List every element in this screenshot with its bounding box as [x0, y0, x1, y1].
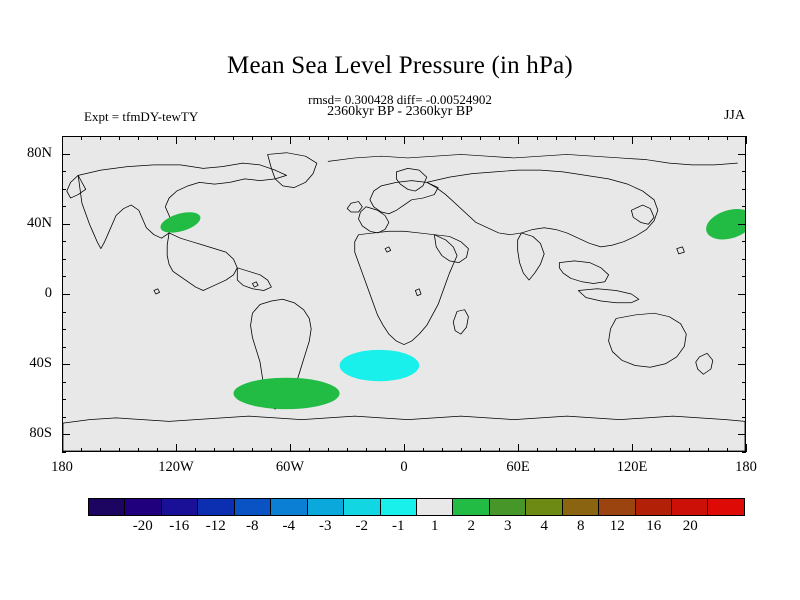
y-axis-tick-right [742, 206, 746, 207]
colorbar-swatch[interactable] [235, 499, 271, 515]
x-axis-tick [404, 444, 405, 452]
x-axis-tick [613, 448, 614, 452]
y-axis-tick [62, 347, 66, 348]
x-axis-tick-top [366, 136, 367, 140]
colorbar-tick-label: -3 [319, 518, 332, 535]
experiment-label: Expt = tfmDY-tewTY [84, 109, 198, 125]
colorbar-tick-label: 1 [431, 518, 439, 535]
colorbar-tick-label: -2 [356, 518, 369, 535]
x-axis-label: 120E [592, 459, 672, 476]
x-axis-tick [689, 448, 690, 452]
y-axis-tick-right [742, 136, 746, 137]
x-axis-tick [670, 448, 671, 452]
colorbar-swatch[interactable] [526, 499, 562, 515]
y-axis-label: 40N [0, 215, 52, 232]
y-axis-tick [62, 364, 70, 365]
x-axis-tick-top [689, 136, 690, 140]
x-axis-tick-top [651, 136, 652, 140]
y-axis-tick-right [742, 189, 746, 190]
y-axis-tick [62, 206, 66, 207]
y-axis-tick-right [742, 399, 746, 400]
x-axis-tick [309, 448, 310, 452]
x-axis-tick-top [214, 136, 215, 140]
x-axis-tick [575, 448, 576, 452]
colorbar-tick-label: 12 [610, 518, 625, 535]
x-axis-tick [556, 448, 557, 452]
x-axis-tick [214, 448, 215, 452]
colorbar-swatch[interactable] [308, 499, 344, 515]
season-label: JJA [724, 108, 745, 124]
x-axis-tick-top [328, 136, 329, 140]
x-axis-tick-top [537, 136, 538, 140]
colorbar-swatch[interactable] [344, 499, 380, 515]
y-axis-tick [62, 259, 66, 260]
x-axis-tick-top [385, 136, 386, 140]
colorbar-tick-label: 4 [541, 518, 549, 535]
colorbar-swatch[interactable] [672, 499, 708, 515]
y-axis-tick-right [738, 154, 746, 155]
colorbar-swatch[interactable] [125, 499, 161, 515]
colorbar-tick-labels: -20-16-12-8-4-3-2-112348121620 [88, 518, 745, 538]
x-axis-label: 60E [478, 459, 558, 476]
y-axis-tick [62, 189, 66, 190]
x-axis-tick [290, 444, 291, 452]
y-axis-tick [62, 434, 70, 435]
x-axis-tick [328, 448, 329, 452]
x-axis-tick-top [727, 136, 728, 140]
x-axis-tick [138, 448, 139, 452]
colorbar-swatch[interactable] [563, 499, 599, 515]
y-axis-tick-right [738, 294, 746, 295]
x-axis-tick-top [480, 136, 481, 140]
x-axis-tick [385, 448, 386, 452]
anomaly-north-pacific [158, 208, 203, 236]
x-axis-tick-top [62, 136, 63, 144]
y-axis-tick [62, 241, 66, 242]
y-axis-tick-right [742, 452, 746, 453]
y-axis-tick [62, 452, 66, 453]
x-axis-tick [499, 448, 500, 452]
x-axis-tick [651, 448, 652, 452]
colorbar-tick-label: 8 [577, 518, 585, 535]
y-axis-tick [62, 294, 70, 295]
y-axis-tick-right [742, 312, 746, 313]
x-axis-tick-top [119, 136, 120, 140]
y-axis-tick [62, 154, 70, 155]
x-axis-tick [480, 448, 481, 452]
colorbar-tick-label: -4 [283, 518, 296, 535]
y-axis-tick-right [742, 259, 746, 260]
y-axis-tick-right [738, 434, 746, 435]
y-axis-tick-right [742, 276, 746, 277]
y-axis-label: 0 [0, 285, 52, 302]
colorbar-swatch[interactable] [271, 499, 307, 515]
x-axis-tick [157, 448, 158, 452]
colorbar-swatch[interactable] [381, 499, 417, 515]
y-axis-tick [62, 312, 66, 313]
x-axis-tick [119, 448, 120, 452]
y-axis-label: 80N [0, 145, 52, 162]
x-axis-tick-top [423, 136, 424, 140]
colorbar-swatch[interactable] [490, 499, 526, 515]
y-axis-tick [62, 417, 66, 418]
y-axis-tick [62, 276, 66, 277]
y-axis-tick [62, 136, 66, 137]
x-axis-tick [81, 448, 82, 452]
y-axis-tick-right [742, 171, 746, 172]
colorbar-tick-label: -12 [206, 518, 226, 535]
x-axis-tick-top [309, 136, 310, 140]
x-axis-tick-top [613, 136, 614, 140]
colorbar-swatch[interactable] [417, 499, 453, 515]
colorbar-swatch[interactable] [453, 499, 489, 515]
x-axis-label: 0 [364, 459, 444, 476]
x-axis-tick-top [746, 136, 747, 144]
y-axis-tick [62, 382, 66, 383]
y-axis-tick-right [742, 382, 746, 383]
x-axis-tick-top [157, 136, 158, 140]
colorbar-swatch[interactable] [636, 499, 672, 515]
page-title: Mean Sea Level Pressure (in hPa) [0, 52, 800, 80]
y-axis-tick-right [742, 241, 746, 242]
x-axis-tick [176, 444, 177, 452]
x-axis-tick-top [556, 136, 557, 140]
y-axis-tick-right [742, 417, 746, 418]
colorbar-swatch[interactable] [198, 499, 234, 515]
x-axis-tick [347, 448, 348, 452]
colorbar-tick-label: 20 [683, 518, 698, 535]
colorbar-swatch[interactable] [708, 499, 743, 515]
y-axis-tick-right [738, 364, 746, 365]
x-axis-tick-top [404, 136, 405, 144]
x-axis-tick [594, 448, 595, 452]
x-axis-tick [461, 448, 462, 452]
x-axis-tick [537, 448, 538, 452]
x-axis-tick-top [442, 136, 443, 140]
colorbar-tick-label: 16 [646, 518, 661, 535]
x-axis-tick [62, 444, 63, 452]
colorbar[interactable] [88, 498, 745, 516]
colorbar-swatch[interactable] [599, 499, 635, 515]
x-axis-tick-top [594, 136, 595, 140]
x-axis-tick [233, 448, 234, 452]
x-axis-tick-top [499, 136, 500, 140]
x-axis-tick-top [518, 136, 519, 144]
x-axis-tick [366, 448, 367, 452]
colorbar-tick-label: -8 [246, 518, 259, 535]
colorbar-tick-label: -1 [392, 518, 405, 535]
x-axis-tick-top [632, 136, 633, 144]
x-axis-tick-top [233, 136, 234, 140]
x-axis-tick [746, 444, 747, 452]
x-axis-label: 60W [250, 459, 330, 476]
colorbar-tick-label: -16 [169, 518, 189, 535]
x-axis-tick [423, 448, 424, 452]
x-axis-tick-top [81, 136, 82, 140]
x-axis-tick [252, 448, 253, 452]
x-axis-tick-top [195, 136, 196, 140]
x-axis-tick-top [347, 136, 348, 140]
x-axis-tick-top [575, 136, 576, 140]
colorbar-tick-label: 3 [504, 518, 512, 535]
y-axis-tick [62, 329, 66, 330]
x-axis-tick-top [271, 136, 272, 140]
y-axis-label: 40S [0, 355, 52, 372]
colorbar-swatch[interactable] [162, 499, 198, 515]
anomaly-shading-layer [63, 137, 745, 451]
y-axis-tick-right [742, 329, 746, 330]
x-axis-tick-top [708, 136, 709, 140]
anomaly-south-america [234, 378, 340, 409]
x-axis-tick-top [290, 136, 291, 144]
x-axis-tick-top [100, 136, 101, 140]
x-axis-tick-top [138, 136, 139, 140]
y-axis-tick [62, 171, 66, 172]
x-axis-tick-top [252, 136, 253, 140]
y-axis-tick-right [742, 347, 746, 348]
x-axis-tick [727, 448, 728, 452]
y-axis-tick-right [738, 224, 746, 225]
x-axis-tick [271, 448, 272, 452]
y-axis-tick [62, 399, 66, 400]
x-axis-label: 180 [706, 459, 786, 476]
colorbar-tick-label: -20 [133, 518, 153, 535]
y-axis-tick [62, 224, 70, 225]
x-axis-tick-top [461, 136, 462, 140]
x-axis-tick-top [176, 136, 177, 144]
anomaly-south-atlantic [340, 350, 420, 381]
x-axis-label: 180 [22, 459, 102, 476]
x-axis-tick [442, 448, 443, 452]
colorbar-tick-label: 2 [468, 518, 476, 535]
map-plot-area [62, 136, 746, 452]
x-axis-tick-top [670, 136, 671, 140]
y-axis-label: 80S [0, 425, 52, 442]
x-axis-tick [100, 448, 101, 452]
colorbar-swatch[interactable] [89, 499, 125, 515]
x-axis-label: 120W [136, 459, 216, 476]
x-axis-tick [518, 444, 519, 452]
x-axis-tick [195, 448, 196, 452]
x-axis-tick [632, 444, 633, 452]
x-axis-tick [708, 448, 709, 452]
